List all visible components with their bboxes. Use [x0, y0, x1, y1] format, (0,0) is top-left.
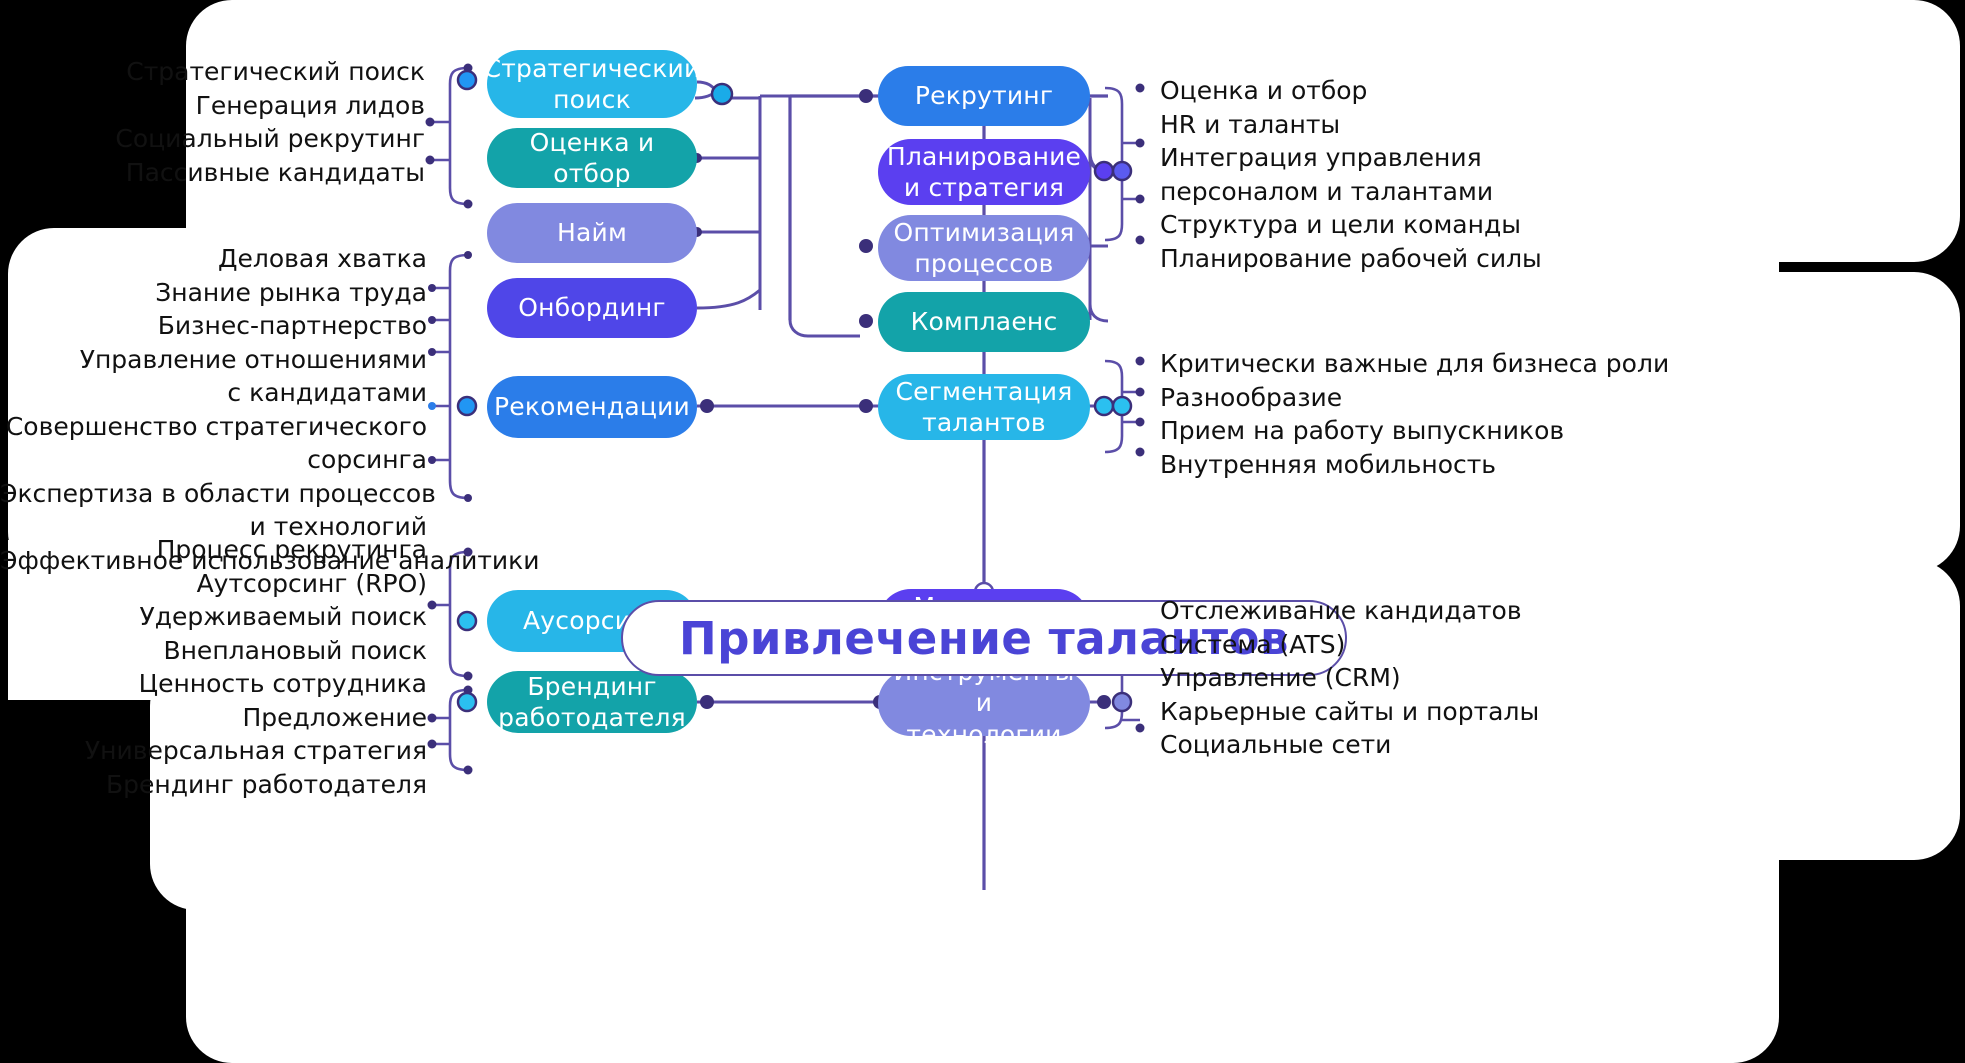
- node-employer-branding[interactable]: Брендинг работодателя: [487, 671, 697, 733]
- leaf-item: Социальные сети: [1160, 728, 1640, 762]
- leaf-item: Брендинг работодателя: [60, 768, 427, 802]
- leaf-item: Пассивные кандидаты: [60, 156, 425, 190]
- leaf-item: Знание рынка труда: [0, 276, 427, 310]
- node-label-line1: Найм: [557, 217, 627, 248]
- node-label-line2: и стратегия: [887, 172, 1081, 203]
- leaf-group-talent-segmentation: Критически важные для бизнеса роли Разно…: [1160, 347, 1660, 481]
- leaf-item: Универсальная стратегия: [60, 734, 427, 768]
- leaf-item: Карьерные сайты и порталы: [1160, 695, 1640, 729]
- leaf-item: с кандидатами: [0, 376, 427, 410]
- leaf-item: Совершенство стратегического: [0, 410, 427, 444]
- node-label-line2: технологии: [892, 719, 1076, 750]
- node-recruiting[interactable]: Рекрутинг: [878, 66, 1090, 126]
- node-hiring[interactable]: Найм: [487, 203, 697, 263]
- leaf-item: Удерживаемый поиск: [60, 600, 427, 634]
- leaf-item: Управление (CRM): [1160, 661, 1640, 695]
- leaf-item: HR и таланты: [1160, 108, 1640, 142]
- leaf-item: Структура и цели команды: [1160, 208, 1640, 242]
- node-planning-strategy[interactable]: Планирование и стратегия: [878, 139, 1090, 205]
- leaf-item: Планирование рабочей силы: [1160, 242, 1640, 276]
- leaf-group-recommendations: Деловая хватка Знание рынка труда Бизнес…: [0, 242, 427, 577]
- leaf-group-outsourcing: Процесс рекрутинга Аутсорсинг (RPO) Удер…: [60, 533, 427, 667]
- node-label-line1: Комплаенс: [911, 306, 1058, 337]
- leaf-item: Прием на работу выпускников: [1160, 414, 1660, 448]
- leaf-group-planning-strategy: Оценка и отбор HR и таланты Интеграция у…: [1160, 74, 1640, 275]
- node-label-line2: поиск: [484, 84, 701, 115]
- node-label-line1: Оценка и отбор: [501, 127, 683, 190]
- leaf-item: Бизнес-партнерство: [0, 309, 427, 343]
- leaf-item: Отслеживание кандидатов: [1160, 594, 1640, 628]
- node-assessment-selection[interactable]: Оценка и отбор: [487, 128, 697, 188]
- leaf-item: Ценность сотрудника: [60, 667, 427, 701]
- node-label-line1: Стратегический: [484, 53, 701, 84]
- node-label-line1: Планирование: [887, 141, 1081, 172]
- leaf-item: Стратегический поиск: [60, 55, 425, 89]
- leaf-item: Экспертиза в области процессов: [0, 477, 427, 511]
- node-label-line1: Рекомендации: [494, 391, 690, 422]
- leaf-group-strategic-search: Стратегический поиск Генерация лидов Соц…: [60, 55, 425, 189]
- leaf-item: Управление отношениями: [0, 343, 427, 377]
- node-compliance[interactable]: Комплаенс: [878, 292, 1090, 352]
- node-label-line1: Сегментация: [896, 376, 1073, 407]
- leaf-item: персоналом и талантами: [1160, 175, 1640, 209]
- node-label-line2: процессов: [893, 248, 1074, 279]
- node-label-line2: талантов: [896, 407, 1073, 438]
- node-label-line2: работодателя: [498, 702, 686, 733]
- node-label-line1: Онбординг: [518, 292, 665, 323]
- leaf-item: Интеграция управления: [1160, 141, 1640, 175]
- node-label-line1: Оптимизация: [893, 217, 1074, 248]
- leaf-item: Аутсорсинг (RPO): [60, 567, 427, 601]
- node-process-optimization[interactable]: Оптимизация процессов: [878, 215, 1090, 281]
- node-onboarding[interactable]: Онбординг: [487, 278, 697, 338]
- node-label-line1: Рекрутинг: [915, 80, 1053, 111]
- leaf-item: Внеплановый поиск: [60, 634, 427, 668]
- leaf-group-employer-branding: Ценность сотрудника Предложение Универса…: [60, 667, 427, 801]
- node-strategic-search[interactable]: Стратегический поиск: [487, 50, 697, 118]
- leaf-item: сорсинга: [0, 443, 427, 477]
- leaf-item: Генерация лидов: [60, 89, 425, 123]
- leaf-item: Система (ATS): [1160, 628, 1640, 662]
- node-recommendations[interactable]: Рекомендации: [487, 376, 697, 438]
- leaf-item: Социальный рекрутинг: [60, 122, 425, 156]
- node-talent-segmentation[interactable]: Сегментация талантов: [878, 374, 1090, 440]
- leaf-item: Процесс рекрутинга: [60, 533, 427, 567]
- node-tools-technology[interactable]: Инструменты и технологии: [878, 670, 1090, 736]
- leaf-item: Оценка и отбор: [1160, 74, 1640, 108]
- leaf-group-tools-technology: Отслеживание кандидатов Система (ATS) Уп…: [1160, 594, 1640, 762]
- leaf-item: Деловая хватка: [0, 242, 427, 276]
- leaf-item: Критически важные для бизнеса роли: [1160, 347, 1660, 381]
- leaf-item: Разнообразие: [1160, 381, 1660, 415]
- leaf-item: Внутренняя мобильность: [1160, 448, 1660, 482]
- leaf-item: Предложение: [60, 701, 427, 735]
- mindmap-canvas: Стратегический поиск Оценка и отбор Найм…: [0, 0, 1965, 1063]
